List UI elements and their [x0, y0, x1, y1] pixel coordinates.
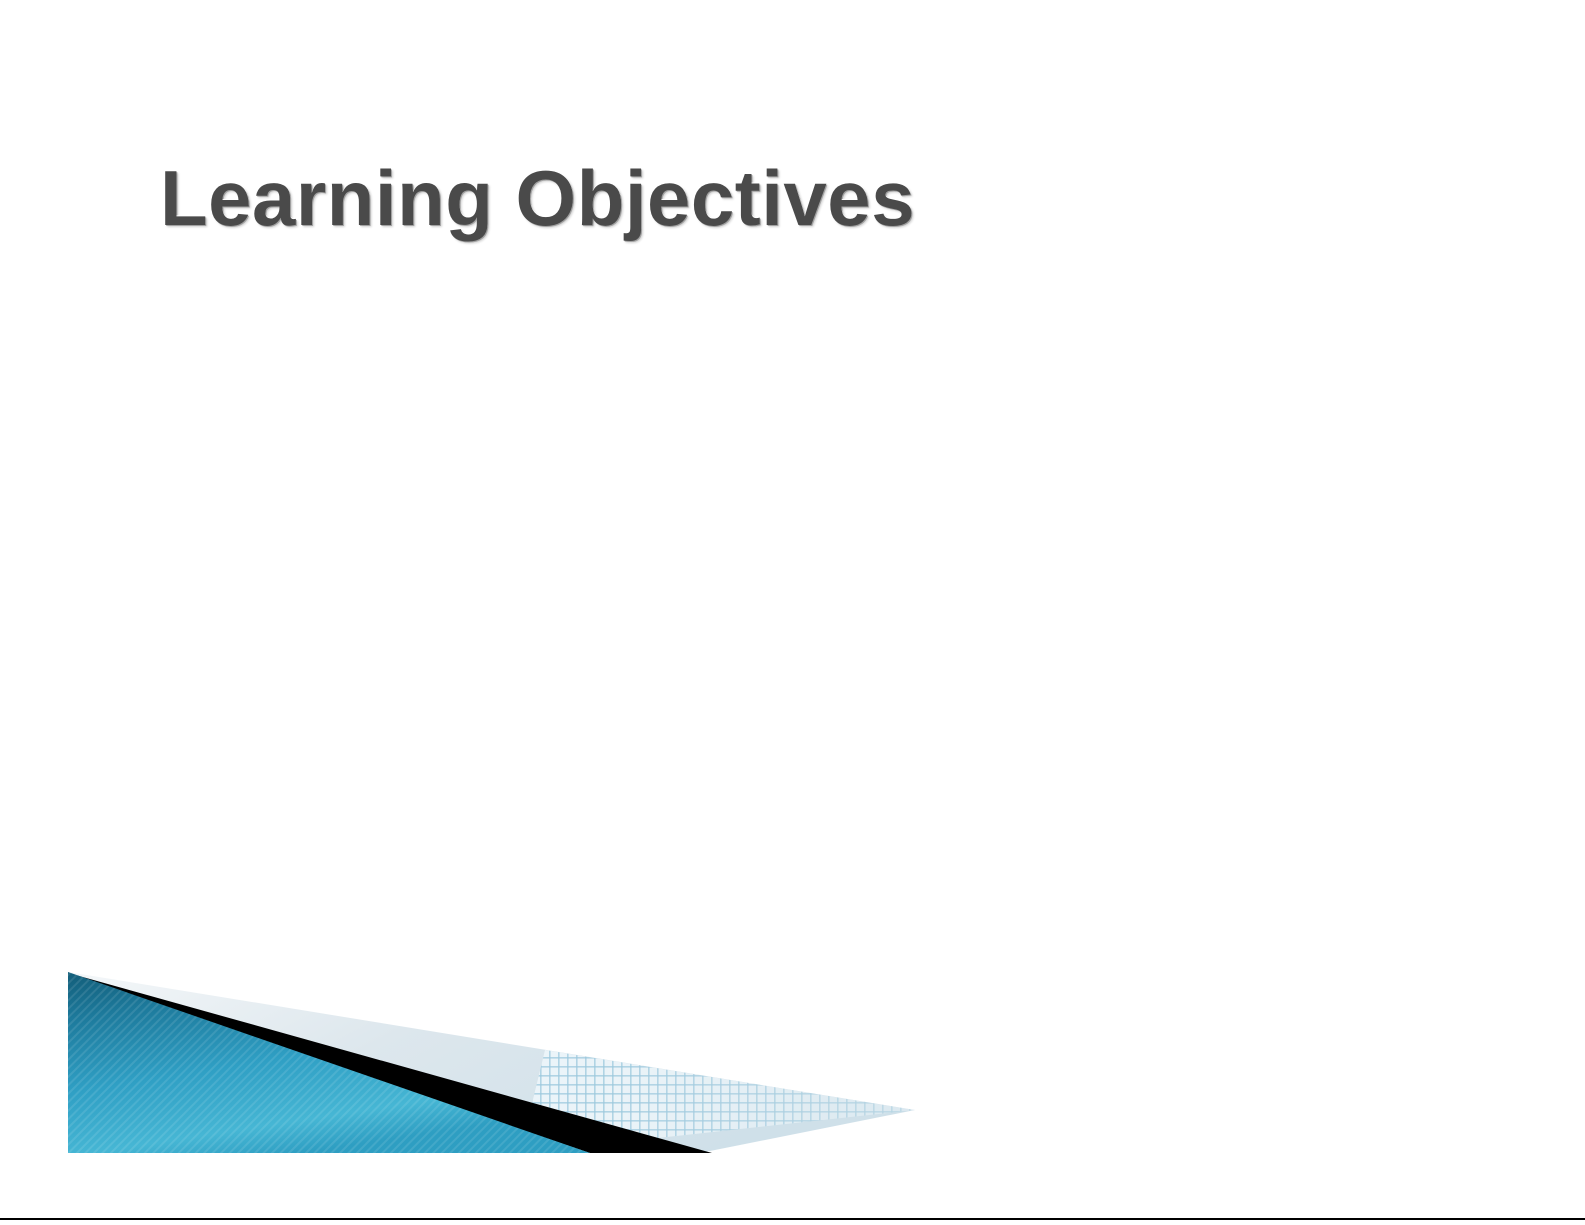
hairline-shape — [68, 976, 590, 1153]
black-stripe-shape — [68, 974, 712, 1153]
teal-wedge-shape — [68, 972, 590, 1153]
grid-triangle-shape — [520, 1050, 915, 1153]
title-placeholder[interactable]: Learning Objectives — [160, 150, 1360, 260]
bottom-left-wedge-graphic — [0, 940, 1000, 1170]
presentation-slide: Learning Objectives — [0, 0, 1585, 1225]
page-title: Learning Objectives — [160, 150, 1360, 246]
bottom-divider — [0, 1218, 1585, 1220]
teal-wedge-texture — [68, 972, 590, 1153]
content-placeholder[interactable] — [160, 300, 1430, 920]
pale-band-shape — [68, 972, 915, 1153]
